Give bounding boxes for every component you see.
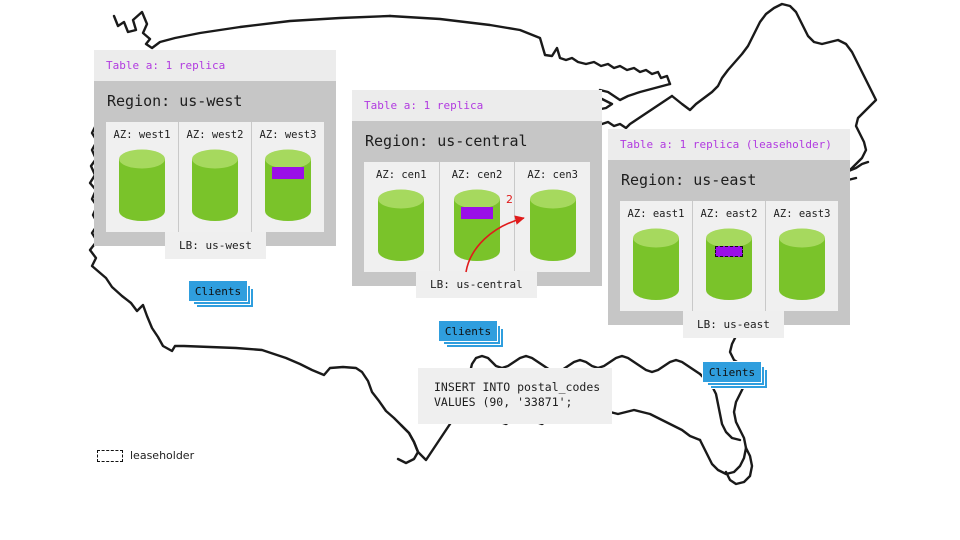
az-row-us-east: AZ: east1 AZ: east2 bbox=[620, 201, 838, 311]
clients-stack-us-west[interactable]: Clients bbox=[188, 280, 254, 306]
sql-line-2: VALUES (90, '33871'; bbox=[434, 395, 572, 409]
node-cylinder-east3[interactable] bbox=[777, 227, 827, 301]
leaseholder-marker-east2 bbox=[715, 246, 743, 257]
leaseholder-swatch-icon bbox=[97, 450, 123, 462]
clients-stack-us-east[interactable]: Clients bbox=[702, 361, 768, 387]
replica-marker-cen2 bbox=[461, 207, 493, 219]
region-title-us-west: Region: us-west bbox=[106, 81, 324, 122]
sql-statement-box: INSERT INTO postal_codes VALUES (90, '33… bbox=[418, 368, 612, 424]
node-cylinder-east1[interactable] bbox=[631, 227, 681, 301]
node-cylinder-cen2[interactable] bbox=[452, 188, 502, 262]
region-panel-us-east: Table a: 1 replica (leaseholder) Region:… bbox=[608, 129, 850, 325]
az-cell-east1[interactable]: AZ: east1 bbox=[620, 201, 693, 311]
clients-button-us-east[interactable]: Clients bbox=[702, 361, 762, 383]
region-title-us-east: Region: us-east bbox=[620, 160, 838, 201]
replica-marker-west3 bbox=[272, 167, 304, 179]
az-cell-east3[interactable]: AZ: east3 bbox=[766, 201, 838, 311]
region-body-us-central: Region: us-central AZ: cen1 AZ: cen2 bbox=[352, 121, 602, 286]
node-cylinder-cen1[interactable] bbox=[376, 188, 426, 262]
clients-button-us-central[interactable]: Clients bbox=[438, 320, 498, 342]
node-cylinder-west1[interactable] bbox=[117, 148, 167, 222]
az-label-cen3: AZ: cen3 bbox=[527, 169, 578, 181]
region-body-us-west: Region: us-west AZ: west1 AZ: west2 bbox=[94, 81, 336, 246]
az-cell-cen1[interactable]: AZ: cen1 bbox=[364, 162, 440, 272]
table-header-us-east: Table a: 1 replica (leaseholder) bbox=[608, 129, 850, 160]
az-cell-east2[interactable]: AZ: east2 bbox=[693, 201, 766, 311]
az-row-us-central: AZ: cen1 AZ: cen2 bbox=[364, 162, 590, 272]
lb-box-us-west[interactable]: LB: us-west bbox=[165, 232, 266, 259]
node-cylinder-east2[interactable] bbox=[704, 227, 754, 301]
az-label-east2: AZ: east2 bbox=[701, 208, 758, 220]
az-cell-cen3[interactable]: AZ: cen3 bbox=[515, 162, 590, 272]
az-cell-west2[interactable]: AZ: west2 bbox=[179, 122, 252, 232]
region-title-us-central: Region: us-central bbox=[364, 121, 590, 162]
az-label-cen2: AZ: cen2 bbox=[452, 169, 503, 181]
az-label-east3: AZ: east3 bbox=[774, 208, 831, 220]
node-cylinder-west3[interactable] bbox=[263, 148, 313, 222]
az-label-west1: AZ: west1 bbox=[114, 129, 171, 141]
az-cell-west3[interactable]: AZ: west3 bbox=[252, 122, 324, 232]
lb-box-us-east[interactable]: LB: us-east bbox=[683, 311, 784, 338]
node-cylinder-cen3[interactable] bbox=[528, 188, 578, 262]
arrow-label-2: 2 bbox=[506, 193, 513, 206]
az-label-east1: AZ: east1 bbox=[628, 208, 685, 220]
table-header-us-central: Table a: 1 replica bbox=[352, 90, 602, 121]
az-label-cen1: AZ: cen1 bbox=[376, 169, 427, 181]
node-cylinder-west2[interactable] bbox=[190, 148, 240, 222]
legend-label: leaseholder bbox=[130, 449, 194, 462]
clients-button-us-west[interactable]: Clients bbox=[188, 280, 248, 302]
lb-box-us-central[interactable]: LB: us-central bbox=[416, 271, 537, 298]
clients-stack-us-central[interactable]: Clients bbox=[438, 320, 504, 346]
sql-line-1: INSERT INTO postal_codes bbox=[434, 380, 600, 394]
az-label-west2: AZ: west2 bbox=[187, 129, 244, 141]
az-row-us-west: AZ: west1 AZ: west2 AZ bbox=[106, 122, 324, 232]
region-panel-us-west: Table a: 1 replica Region: us-west AZ: w… bbox=[94, 50, 336, 246]
az-cell-west1[interactable]: AZ: west1 bbox=[106, 122, 179, 232]
region-panel-us-central: Table a: 1 replica Region: us-central AZ… bbox=[352, 90, 602, 286]
legend: leaseholder bbox=[97, 449, 194, 462]
az-label-west3: AZ: west3 bbox=[260, 129, 317, 141]
region-body-us-east: Region: us-east AZ: east1 AZ: east2 bbox=[608, 160, 850, 325]
az-cell-cen2[interactable]: AZ: cen2 bbox=[440, 162, 516, 272]
table-header-us-west: Table a: 1 replica bbox=[94, 50, 336, 81]
